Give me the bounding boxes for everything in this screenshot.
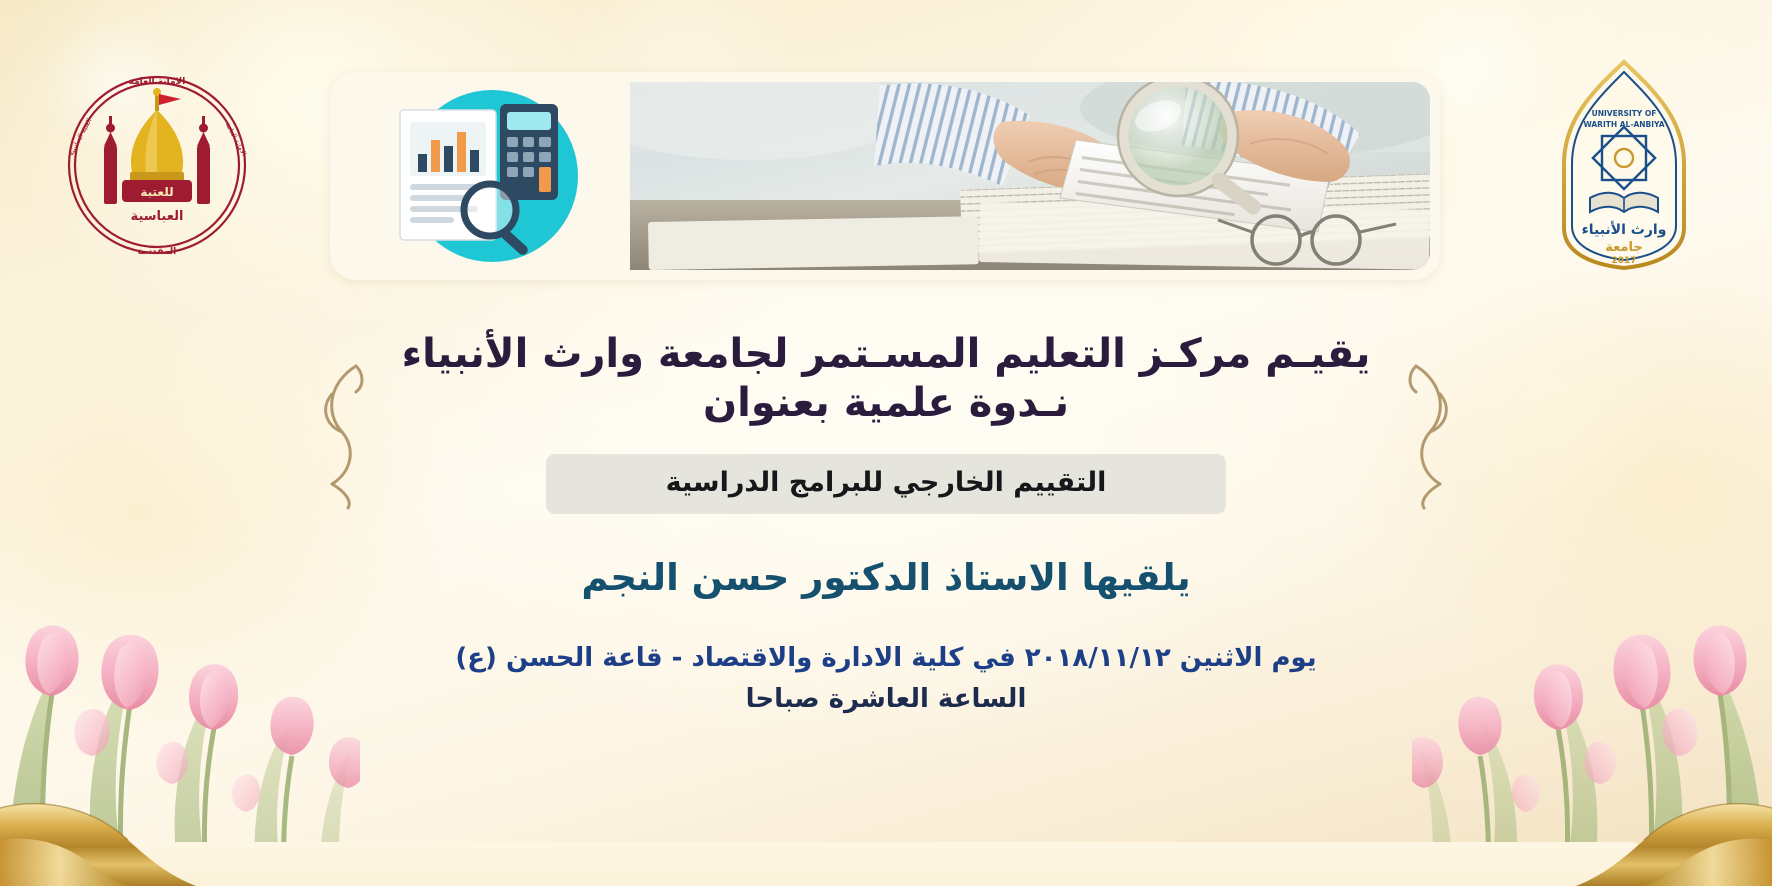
logo-right-english-text: UNIVERSITY OF (1592, 109, 1657, 118)
logo-left-center-text: للعتبة (140, 185, 173, 199)
headline-line-1: يقيـم مركـز التعليم المسـتمر لجامعة وارث… (402, 331, 1371, 377)
svg-text:جامعة: جامعة (1605, 240, 1643, 255)
hero-photo (630, 82, 1430, 270)
event-poster: الامانة العامة المقدسة العتبة العباسية ا… (0, 0, 1772, 886)
event-time: الساعة العاشرة صباحا (0, 683, 1772, 716)
speaker-name: يلقيها الاستاذ الدكتور حسن النجم (0, 556, 1772, 600)
university-of-warith-al-anbiya-logo: UNIVERSITY OF WARITH AL-ANBIYA وارث الأن… (1534, 58, 1714, 273)
headline-line-2: نـدوة علمية بعنوان (0, 379, 1772, 428)
hero-banner-card (330, 72, 1440, 280)
hands-magnifying-glass-documents-photo (630, 82, 1430, 270)
bottom-cream-strip (128, 842, 1644, 886)
logo-right-year: 2017 (1611, 256, 1636, 266)
seminar-title: التقييم الخارجي للبرامج الدراسية (666, 467, 1107, 499)
logo-left-top-text: الامانة العامة (129, 77, 186, 87)
logo-left-bottom-text: المقدسة (138, 247, 176, 257)
logo-right-arabic-text: وارث الأنبياء (1582, 221, 1667, 238)
event-headline: يقيـم مركـز التعليم المسـتمر لجامعة وارث… (0, 330, 1772, 428)
date-and-venue: يوم الاثنين ٢٠١٨/١١/١٢ في كلية الادارة و… (0, 642, 1772, 675)
audit-analysis-icon (340, 82, 630, 270)
logo-left-center-text-2: العباسية (131, 209, 184, 224)
poster-content: يقيـم مركـز التعليم المسـتمر لجامعة وارث… (0, 330, 1772, 715)
al-abbas-holy-shrine-logo: الامانة العامة المقدسة العتبة العباسية ا… (62, 68, 252, 263)
seminar-title-box: التقييم الخارجي للبرامج الدراسية (546, 454, 1227, 514)
hero-icon-panel (340, 82, 630, 270)
